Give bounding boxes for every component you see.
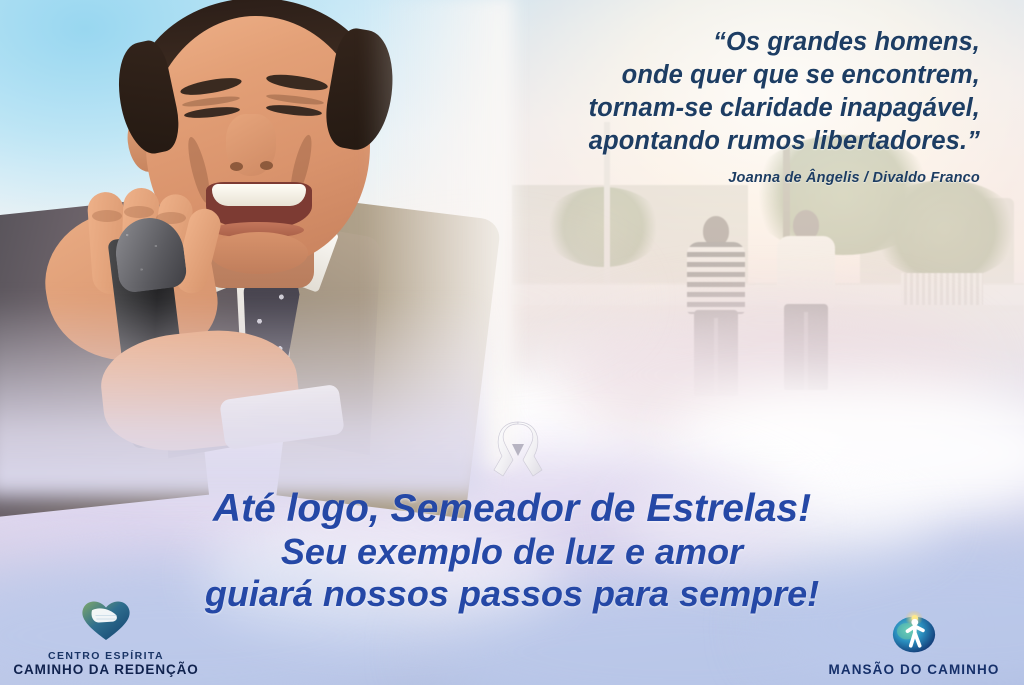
portrait-photo — [0, 0, 464, 466]
logo-left-line-2: CAMINHO DA REDENÇÃO — [8, 662, 204, 677]
quote-line-2: onde quer que se encontrem, — [420, 59, 980, 92]
headline-line-1: Até logo, Semeador de Estrelas! — [0, 486, 1024, 531]
quote-attribution: Joanna de Ângelis / Divaldo Franco — [420, 170, 980, 186]
logo-left-line-1: CENTRO ESPÍRITA — [8, 650, 204, 662]
headline-line-2: Seu exemplo de luz e amor — [0, 531, 1024, 573]
logo-centro-espirita: CENTRO ESPÍRITA CAMINHO DA REDENÇÃO — [8, 596, 204, 677]
heart-hands-logo-icon — [8, 596, 204, 647]
memorial-poster: “Os grandes homens, onde quer que se enc… — [0, 0, 1024, 685]
white-awareness-ribbon-icon — [482, 414, 554, 486]
quote-text: “Os grandes homens, onde quer que se enc… — [420, 26, 980, 158]
logo-right-line-1: MANSÃO DO CAMINHO — [810, 662, 1018, 677]
globe-figure-logo-icon — [810, 610, 1018, 659]
logo-mansao-do-caminho: MANSÃO DO CAMINHO — [810, 610, 1018, 677]
quote-line-4: apontando rumos libertadores.” — [420, 125, 980, 158]
quote-line-1: “Os grandes homens, — [420, 26, 980, 59]
quote-line-3: tornam-se claridade inapagável, — [420, 92, 980, 125]
